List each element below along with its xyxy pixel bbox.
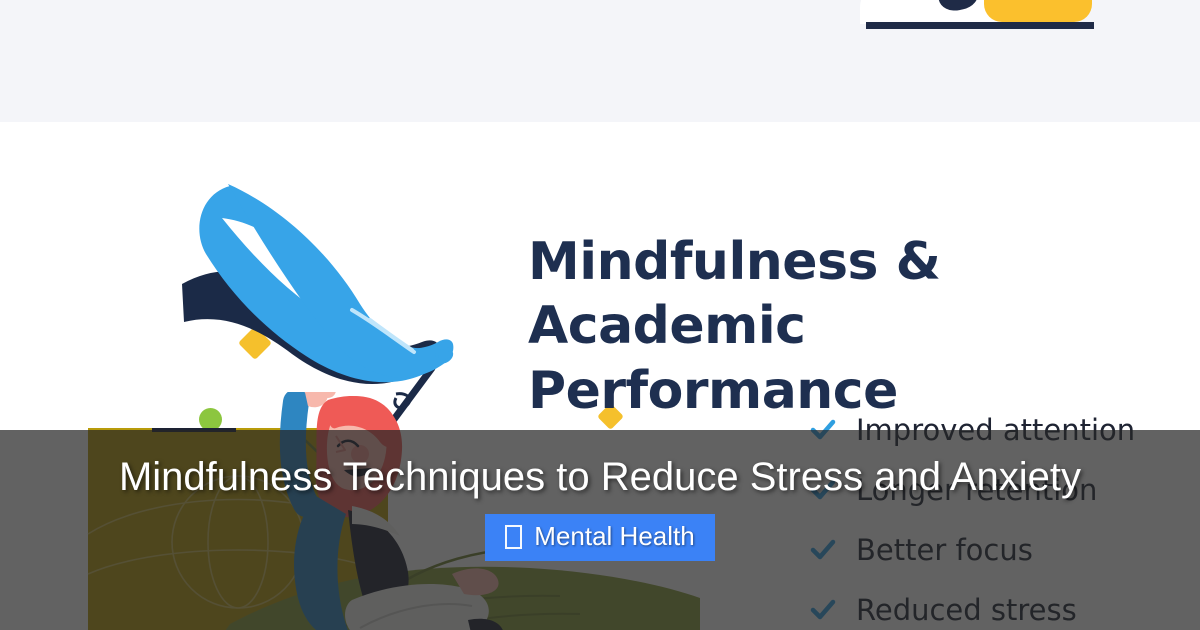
article-hero-screenshot: Mindfulness & Academic Performance Impro… xyxy=(0,0,1200,630)
badge-row: Mental Health xyxy=(485,514,714,561)
category-badge-label: Mental Health xyxy=(534,521,694,552)
fragment-yellow-shape xyxy=(984,0,1092,22)
fragment-baseline-bar xyxy=(866,22,1094,29)
caption-overlay: Mindfulness Techniques to Reduce Stress … xyxy=(0,430,1200,630)
category-badge[interactable]: Mental Health xyxy=(485,514,714,561)
previous-illustration-fragment xyxy=(860,0,1100,28)
article-title: Mindfulness Techniques to Reduce Stress … xyxy=(70,454,1130,500)
missing-glyph-box-icon xyxy=(505,525,522,549)
artwork-heading: Mindfulness & Academic Performance xyxy=(528,230,1108,423)
top-section-band xyxy=(0,0,1200,122)
